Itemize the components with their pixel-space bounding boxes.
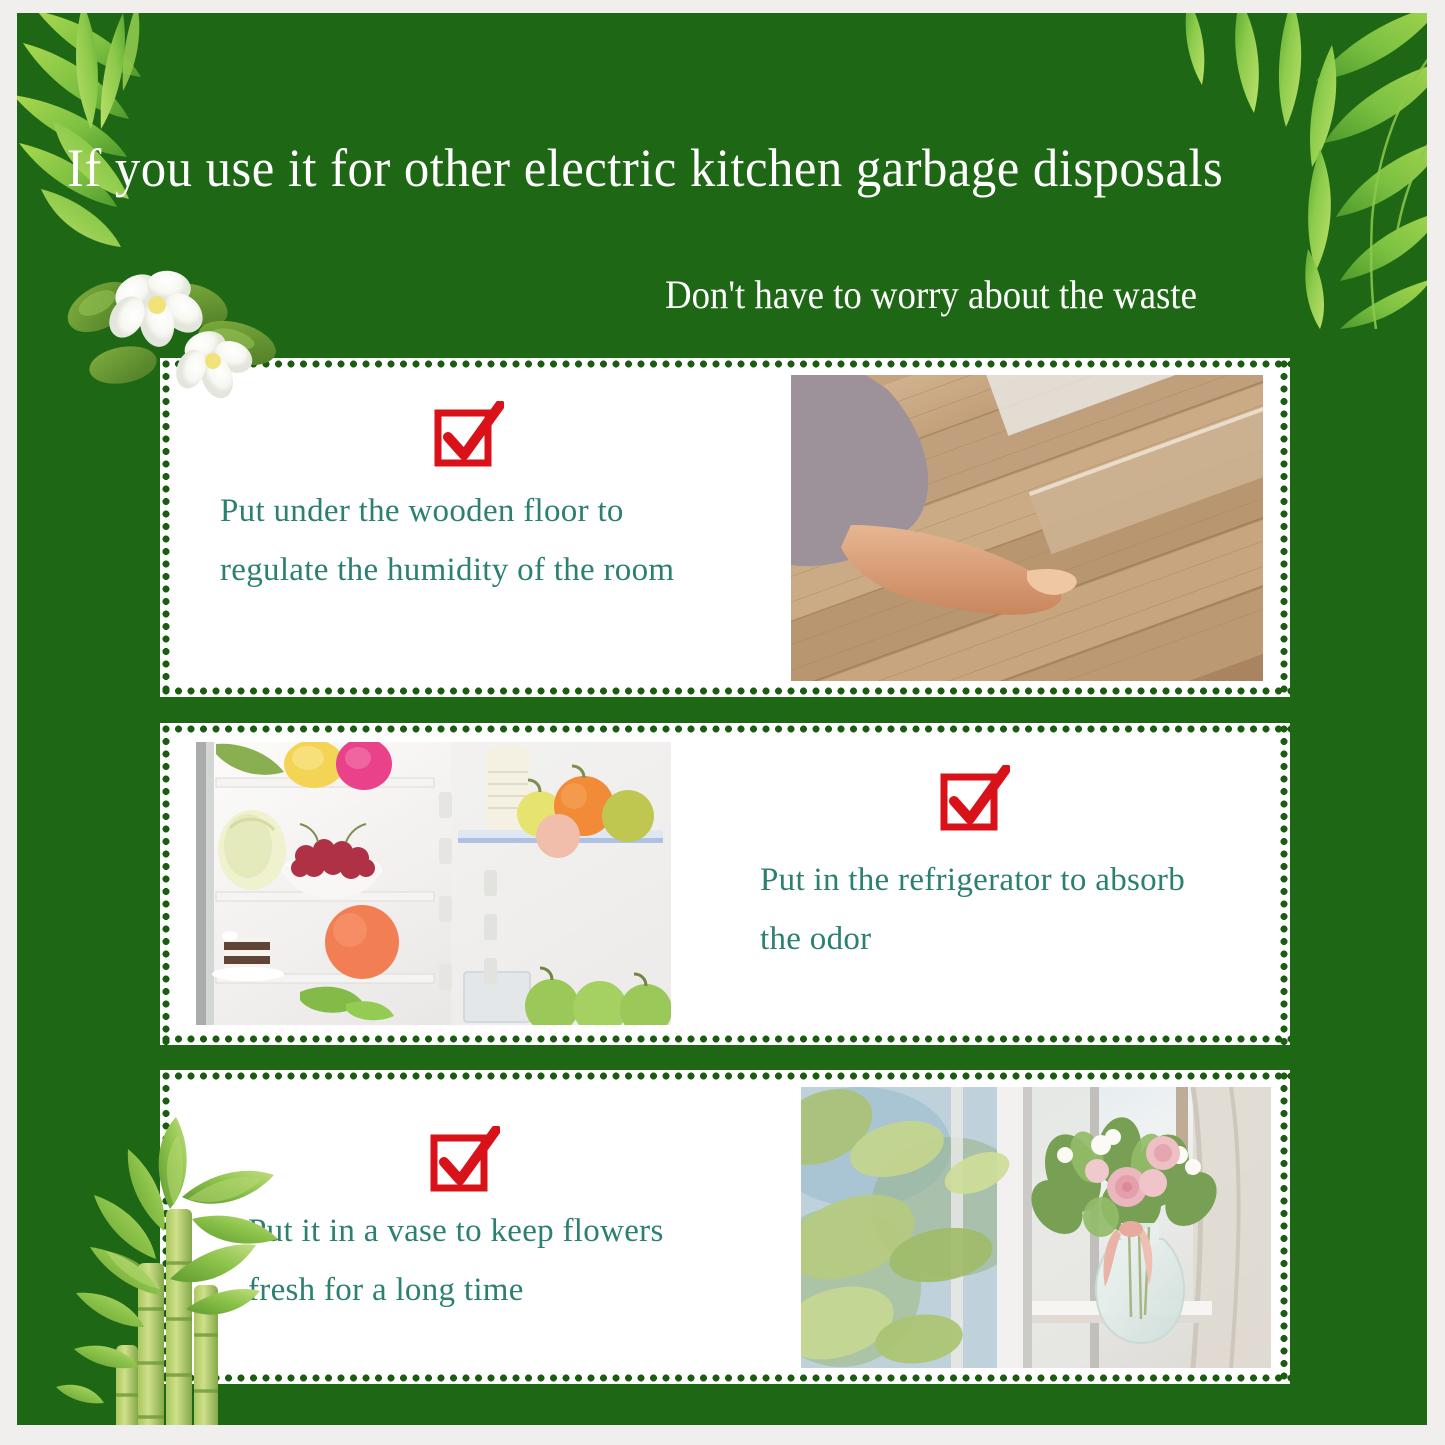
benefit-line-2: fresh for a long time [248, 1261, 808, 1320]
benefit-line-1: Put it in a vase to keep flowers [248, 1202, 808, 1261]
page-subtitle: Don't have to worry about the waste [665, 271, 1197, 318]
benefit-line-1: Put under the wooden floor to [220, 482, 780, 541]
page-title: If you use it for other electric kitchen… [67, 141, 1345, 195]
benefit-text-wooden-floor: Put under the wooden floor to regulate t… [220, 482, 780, 599]
checked-checkbox-icon [428, 1126, 500, 1194]
product-infographic: If you use it for other electric kitchen… [0, 0, 1445, 1445]
photo-wooden-floor-installation [791, 375, 1263, 681]
checked-checkbox-icon [938, 765, 1010, 833]
benefit-line-1: Put in the refrigerator to absorb [760, 851, 1290, 910]
photo-open-refrigerator [196, 742, 671, 1025]
checked-checkbox-icon [432, 401, 504, 469]
benefit-card-flower-vase: Put it in a vase to keep flowers fresh f… [160, 1070, 1290, 1384]
benefit-text-flower-vase: Put it in a vase to keep flowers fresh f… [248, 1202, 808, 1319]
benefit-line-2: the odor [760, 910, 1290, 969]
benefit-line-2: regulate the humidity of the room [220, 541, 780, 600]
photo-vase-on-windowsill [801, 1087, 1271, 1368]
benefit-card-wooden-floor: Put under the wooden floor to regulate t… [160, 358, 1290, 697]
green-background-panel: If you use it for other electric kitchen… [17, 13, 1427, 1425]
benefit-card-refrigerator: Put in the refrigerator to absorb the od… [160, 723, 1290, 1045]
benefit-text-refrigerator: Put in the refrigerator to absorb the od… [760, 851, 1290, 968]
